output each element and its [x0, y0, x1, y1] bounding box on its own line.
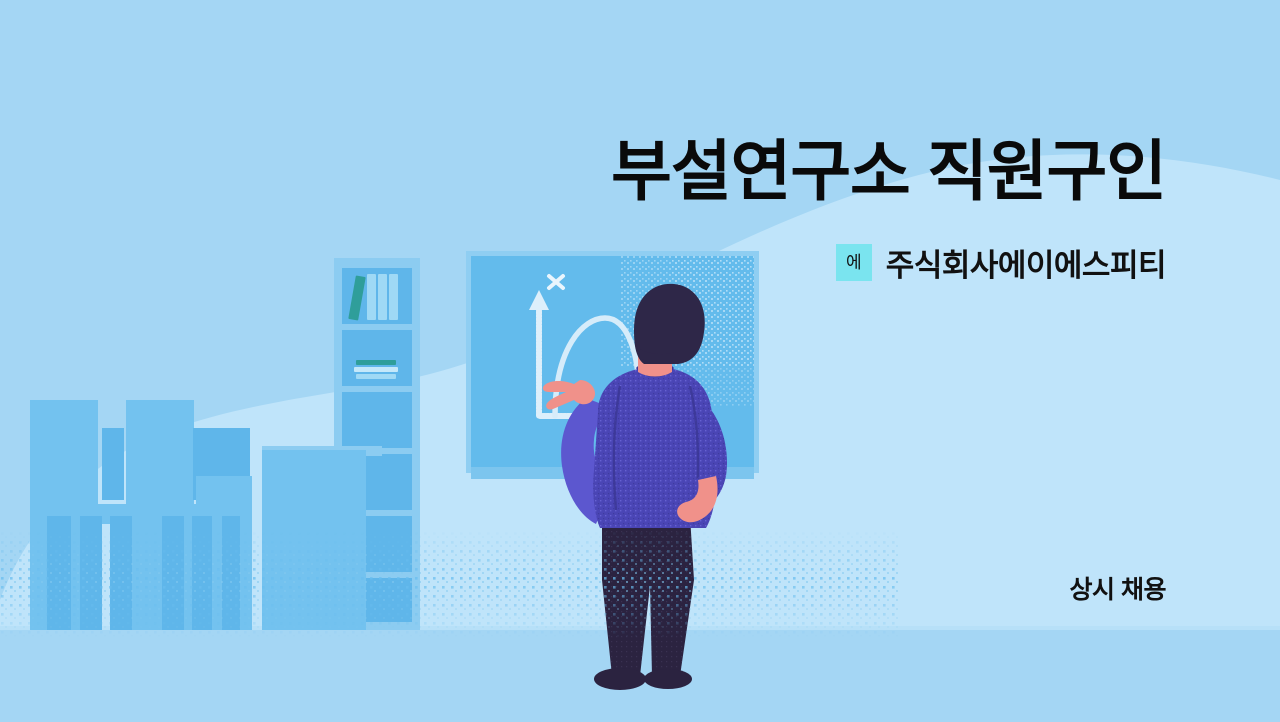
book-blue-1 [367, 274, 376, 320]
desk-body [262, 450, 366, 630]
page-title: 부설연구소 직원구인 [611, 136, 1166, 207]
book-blue-3 [389, 274, 398, 320]
book-stack-light-1 [354, 367, 398, 372]
company-row: 에 주식회사에이에스피티 [836, 240, 1166, 285]
hiring-type-label: 상시 채용 [1070, 570, 1166, 606]
standing-businessman-illustration [540, 280, 760, 692]
abstract-buildings-group [0, 380, 300, 630]
book-stack-teal [356, 360, 396, 365]
company-badge: 에 [836, 244, 872, 281]
company-name: 주식회사에이에스피티 [886, 240, 1166, 285]
job-posting-banner: 부설연구소 직원구인 에 주식회사에이에스피티 상시 채용 [0, 0, 1280, 722]
book-blue-2 [378, 274, 387, 320]
book-stack-light-2 [356, 374, 396, 379]
